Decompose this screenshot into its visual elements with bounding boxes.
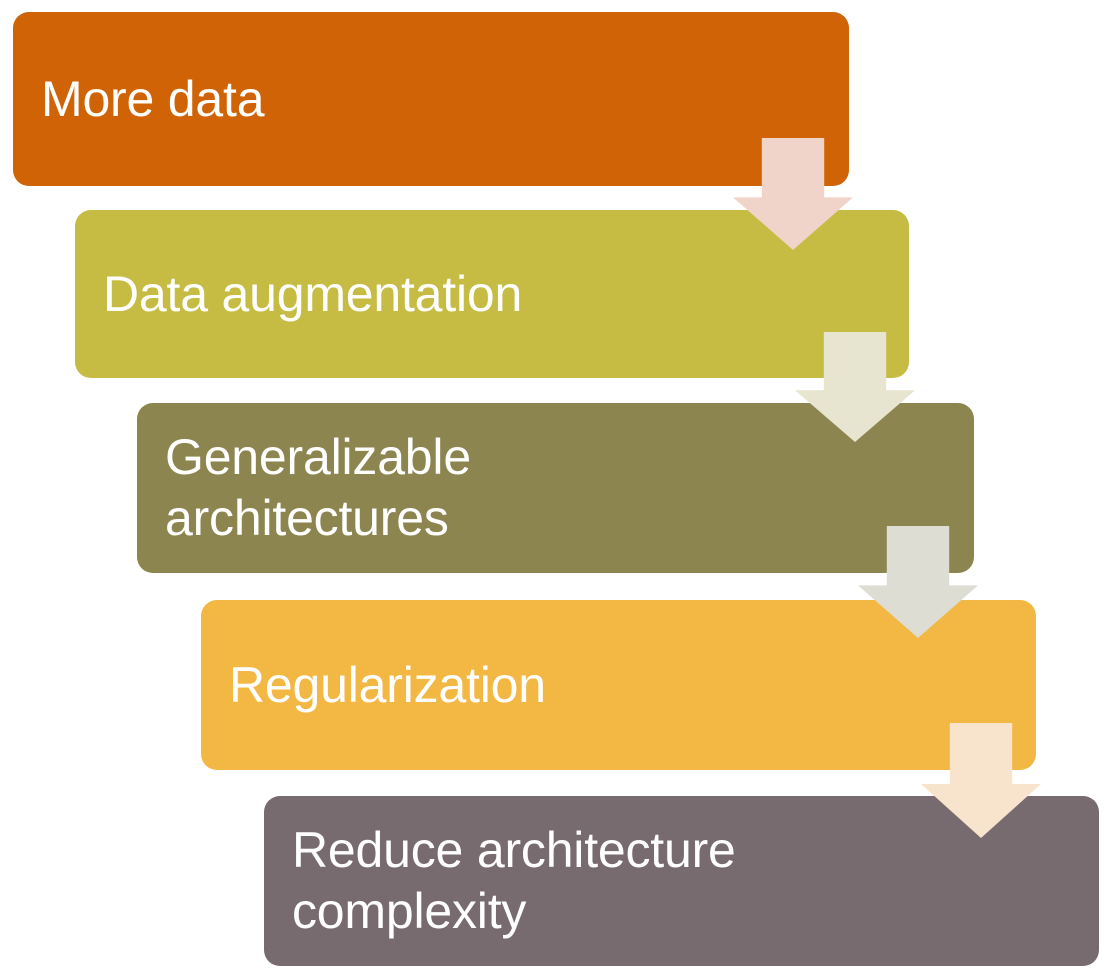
process-step-5[interactable]: Reduce architecture complexity xyxy=(264,796,1099,966)
process-step-2[interactable]: Data augmentation xyxy=(75,210,909,378)
process-step-3[interactable]: Generalizable architectures xyxy=(137,403,974,573)
process-diagram-canvas: More dataData augmentationGeneralizable … xyxy=(0,0,1110,979)
process-step-4[interactable]: Regularization xyxy=(201,600,1036,770)
process-step-label: Reduce architecture complexity xyxy=(292,820,736,942)
process-step-label: Data augmentation xyxy=(103,264,522,325)
process-step-label: More data xyxy=(41,69,264,130)
process-step-label: Regularization xyxy=(229,655,546,716)
process-step-label: Generalizable architectures xyxy=(165,427,471,549)
process-step-1[interactable]: More data xyxy=(13,12,849,186)
